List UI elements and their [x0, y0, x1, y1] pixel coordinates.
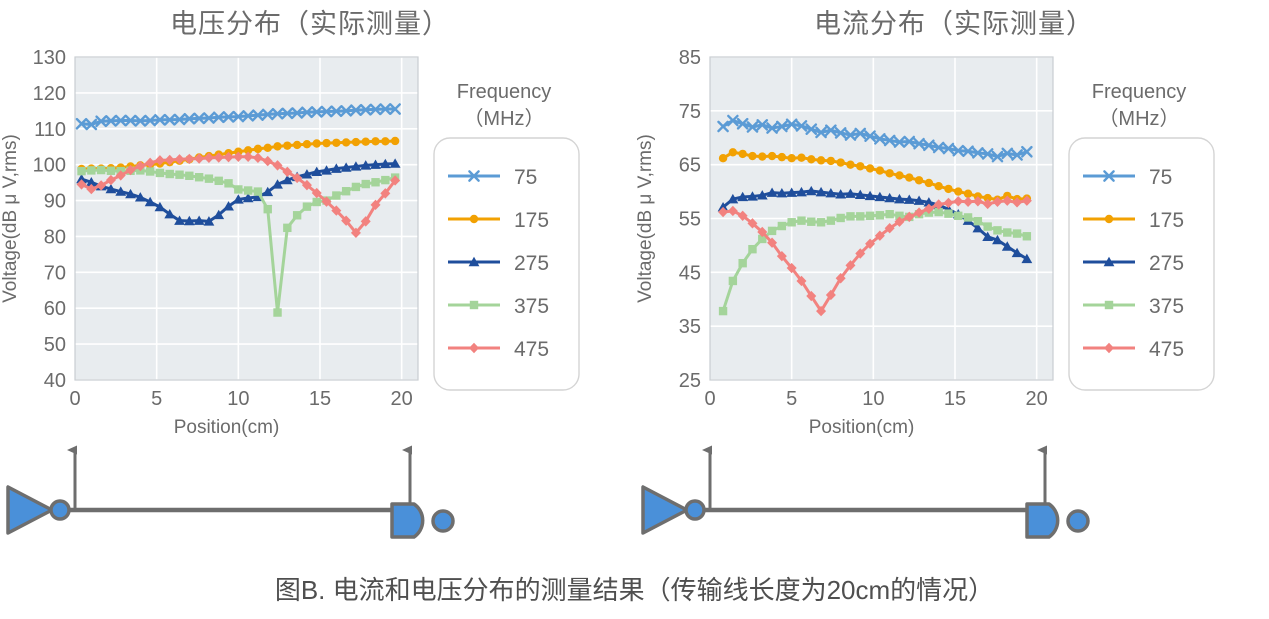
nand-bubble [433, 511, 453, 531]
x-tick-label: 0 [69, 388, 80, 410]
data-point-marker [234, 185, 242, 193]
data-point-marker [342, 187, 350, 195]
panel-voltage: 电压分布（实际测量） 40506070809010011012013005101… [0, 0, 634, 560]
data-point-marker [768, 152, 776, 160]
data-point-marker [885, 210, 893, 218]
y-tick-label: 50 [44, 334, 66, 356]
y-tick-label: 70 [44, 262, 66, 284]
legend: Frequency（MHz）75175275375475 [1069, 81, 1214, 390]
y-tick-label: 55 [679, 209, 701, 231]
data-point-marker [738, 150, 746, 158]
data-point-marker [332, 139, 340, 147]
data-point-marker [195, 173, 203, 181]
nand-body [392, 504, 423, 537]
x-tick-label: 5 [786, 388, 797, 410]
inverter-triangle [8, 487, 52, 533]
data-point-marker [1023, 232, 1031, 240]
data-point-marker [1003, 228, 1011, 236]
inverter-bubble [51, 501, 69, 519]
y-tick-label: 45 [679, 262, 701, 284]
data-point-marker [944, 185, 952, 193]
data-point-marker [915, 176, 923, 184]
x-tick-label: 0 [704, 388, 715, 410]
data-point-marker [964, 213, 972, 221]
data-point-marker [362, 137, 370, 145]
data-point-marker [391, 137, 399, 145]
legend-title-line2: （MHz） [463, 107, 544, 130]
circuit-current [635, 425, 1115, 560]
panel-current: 电流分布（实际测量） 2535455565758505101520Positio… [635, 0, 1269, 560]
data-point-marker [719, 154, 727, 162]
data-point-marker [1013, 229, 1021, 237]
legend-label: 275 [514, 252, 549, 275]
y-tick-label: 130 [33, 47, 66, 69]
data-point-marker [778, 153, 786, 161]
data-point-marker [166, 170, 174, 178]
data-point-marker [470, 215, 478, 223]
data-point-marker [797, 216, 805, 224]
data-point-marker [156, 169, 164, 177]
legend-title-line1: Frequency [1092, 81, 1187, 103]
x-tick-label: 5 [151, 388, 162, 410]
data-point-marker [866, 212, 874, 220]
data-point-marker [362, 180, 370, 188]
data-point-marker [846, 160, 854, 168]
legend-label: 375 [1149, 295, 1184, 318]
data-point-marker [470, 301, 478, 309]
inverter-triangle [643, 487, 687, 533]
data-point-marker [313, 139, 321, 147]
data-point-marker [954, 187, 962, 195]
legend: Frequency（MHz）75175275375475 [434, 81, 579, 390]
data-point-marker [748, 152, 756, 160]
data-point-marker [905, 173, 913, 181]
nand-gate [392, 504, 453, 537]
nand-bubble [1068, 511, 1088, 531]
data-point-marker [371, 137, 379, 145]
data-point-marker [993, 226, 1001, 234]
data-point-marker [768, 227, 776, 235]
data-point-marker [1105, 301, 1113, 309]
data-point-marker [264, 144, 272, 152]
chart-title-voltage: 电压分布（实际测量） [0, 2, 627, 41]
chart-current: 2535455565758505101520Position(cm)Voltag… [635, 40, 1269, 430]
data-point-marker [185, 172, 193, 180]
data-point-marker [797, 153, 805, 161]
legend-label: 275 [1149, 252, 1184, 275]
x-tick-label: 10 [862, 388, 884, 410]
data-point-marker [371, 178, 379, 186]
data-point-marker [1105, 215, 1113, 223]
data-point-marker [974, 217, 982, 225]
inverter-bubble [686, 501, 704, 519]
y-axis-ticks: 25354555657585 [679, 47, 701, 392]
data-point-marker [77, 167, 85, 175]
data-point-marker [729, 277, 737, 285]
data-point-marker [313, 198, 321, 206]
data-point-marker [778, 222, 786, 230]
data-point-marker [273, 142, 281, 150]
data-point-marker [293, 141, 301, 149]
y-tick-label: 75 [679, 101, 701, 123]
data-point-marker [885, 169, 893, 177]
data-point-marker [944, 209, 952, 217]
y-tick-label: 100 [33, 155, 66, 177]
data-point-marker [846, 212, 854, 220]
data-point-marker [787, 154, 795, 162]
data-point-marker [876, 166, 884, 174]
legend-label: 475 [514, 338, 549, 361]
data-point-marker [381, 176, 389, 184]
data-point-marker [807, 218, 815, 226]
data-point-marker [866, 164, 874, 172]
inverter-gate [8, 487, 69, 533]
data-point-marker [352, 138, 360, 146]
data-point-marker [146, 167, 154, 175]
data-point-marker [381, 137, 389, 145]
data-point-marker [205, 174, 213, 182]
data-point-marker [224, 179, 232, 187]
y-tick-label: 25 [679, 370, 701, 392]
y-tick-label: 65 [679, 155, 701, 177]
x-tick-label: 15 [944, 388, 966, 410]
data-point-marker [934, 182, 942, 190]
x-tick-label: 20 [391, 388, 413, 410]
data-point-marker [817, 218, 825, 226]
legend-label: 375 [514, 295, 549, 318]
data-point-marker [283, 141, 291, 149]
data-point-marker [215, 177, 223, 185]
data-point-marker [322, 139, 330, 147]
data-point-marker [254, 145, 262, 153]
legend-label: 175 [514, 209, 549, 232]
data-point-marker [827, 216, 835, 224]
data-point-marker [352, 183, 360, 191]
data-point-marker [303, 202, 311, 210]
figure-container: 电压分布（实际测量） 40506070809010011012013005101… [0, 0, 1269, 619]
data-point-marker [244, 186, 252, 194]
y-tick-label: 35 [679, 316, 701, 338]
nand-body [1027, 504, 1058, 537]
figure-caption: 图B. 电流和电压分布的测量结果（传输线长度为20cm的情况） [0, 570, 1269, 607]
legend-label: 75 [1149, 166, 1172, 189]
chart-voltage: 40506070809010011012013005101520Position… [0, 40, 634, 430]
data-point-marker [738, 259, 746, 267]
data-point-marker [954, 212, 962, 220]
circuit-voltage [0, 425, 480, 560]
legend-label: 75 [514, 166, 537, 189]
nand-gate [1027, 504, 1088, 537]
x-tick-label: 15 [309, 388, 331, 410]
data-point-marker [925, 179, 933, 187]
data-point-marker [719, 307, 727, 315]
legend-title-line1: Frequency [457, 81, 552, 103]
x-tick-label: 10 [227, 388, 249, 410]
y-tick-label: 110 [34, 119, 66, 141]
data-point-marker [264, 205, 272, 213]
data-point-marker [983, 222, 991, 230]
data-point-marker [332, 191, 340, 199]
data-point-marker [895, 171, 903, 179]
data-point-marker [293, 211, 301, 219]
data-point-marker [107, 167, 115, 175]
data-point-marker [729, 148, 737, 156]
legend-label: 475 [1149, 338, 1184, 361]
data-point-marker [836, 214, 844, 222]
y-tick-label: 60 [44, 298, 66, 320]
data-point-marker [97, 166, 105, 174]
chart-title-current: 电流分布（实际测量） [637, 2, 1269, 41]
y-axis-label: Voltage(dB μ V,rms) [635, 134, 656, 303]
data-point-marker [807, 155, 815, 163]
inverter-gate [643, 487, 704, 533]
data-point-marker [836, 158, 844, 166]
data-point-marker [273, 308, 281, 316]
data-point-marker [87, 166, 95, 174]
legend-title-line2: （MHz） [1098, 107, 1179, 130]
data-point-marker [827, 157, 835, 165]
y-tick-label: 120 [33, 83, 66, 105]
data-point-marker [283, 224, 291, 232]
data-point-marker [856, 162, 864, 170]
x-axis-ticks: 05101520 [704, 388, 1047, 410]
y-axis-label: Voltage(dB μ V,rms) [0, 134, 21, 303]
data-point-marker [856, 212, 864, 220]
data-point-marker [876, 211, 884, 219]
y-tick-label: 40 [44, 370, 66, 392]
data-point-marker [817, 156, 825, 164]
y-axis-ticks: 405060708090100110120130 [33, 47, 66, 392]
x-axis-ticks: 05101520 [69, 388, 412, 410]
y-tick-label: 80 [44, 226, 66, 248]
data-point-marker [758, 152, 766, 160]
legend-label: 175 [1149, 209, 1184, 232]
data-point-marker [748, 245, 756, 253]
data-point-marker [175, 171, 183, 179]
data-point-marker [787, 218, 795, 226]
data-point-marker [303, 140, 311, 148]
data-point-marker [254, 187, 262, 195]
y-tick-label: 90 [44, 191, 66, 213]
data-point-marker [342, 138, 350, 146]
x-tick-label: 20 [1026, 388, 1048, 410]
y-tick-label: 85 [679, 47, 701, 69]
